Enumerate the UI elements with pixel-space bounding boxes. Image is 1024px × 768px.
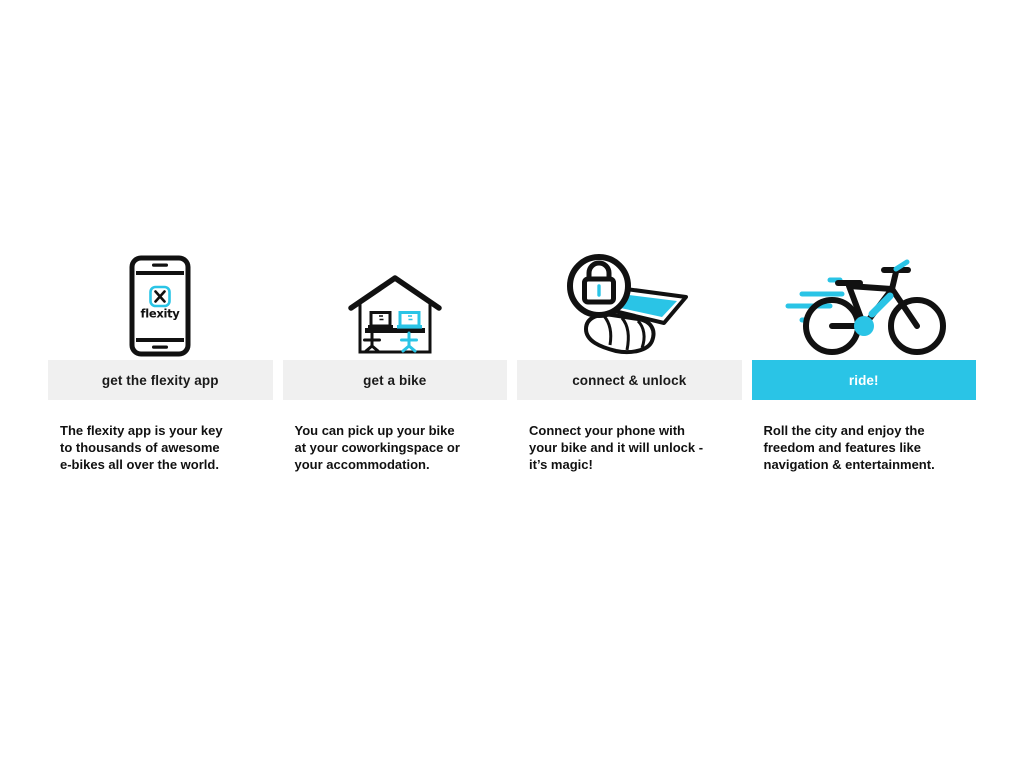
step-1-body: The flexity app is your key to thousands… [48, 422, 273, 473]
step-2-icon-area [283, 210, 508, 360]
step-3-body: Connect your phone with your bike and it… [517, 422, 742, 473]
step-2-body: You can pick up your bike at your cowork… [283, 422, 508, 473]
svg-text:flexity: flexity [141, 307, 181, 321]
step-2-label[interactable]: get a bike [283, 360, 508, 400]
step-get-a-bike[interactable]: get a bike You can pick up your bike at … [283, 210, 508, 473]
bicycle-speed-lines-icon [780, 256, 948, 358]
step-1-label[interactable]: get the flexity app [48, 360, 273, 400]
step-get-the-flexity-app[interactable]: flexity get the flexity app The flexity … [48, 210, 273, 473]
step-3-icon-area [517, 210, 742, 360]
step-ride[interactable]: ride! Roll the city and enjoy the freedo… [752, 210, 977, 473]
how-it-works-steps: flexity get the flexity app The flexity … [48, 210, 976, 473]
step-4-label[interactable]: ride! [752, 360, 977, 400]
house-coworking-desk-icon [345, 272, 445, 358]
smartphone-flexity-app-icon: flexity [128, 254, 192, 358]
step-3-label[interactable]: connect & unlock [517, 360, 742, 400]
step-4-icon-area [752, 210, 977, 360]
step-connect-and-unlock[interactable]: connect & unlock Connect your phone with… [517, 210, 742, 473]
step-4-body: Roll the city and enjoy the freedom and … [752, 422, 977, 473]
step-1-icon-area: flexity [48, 210, 273, 360]
padlock-phone-hand-icon [564, 253, 694, 358]
